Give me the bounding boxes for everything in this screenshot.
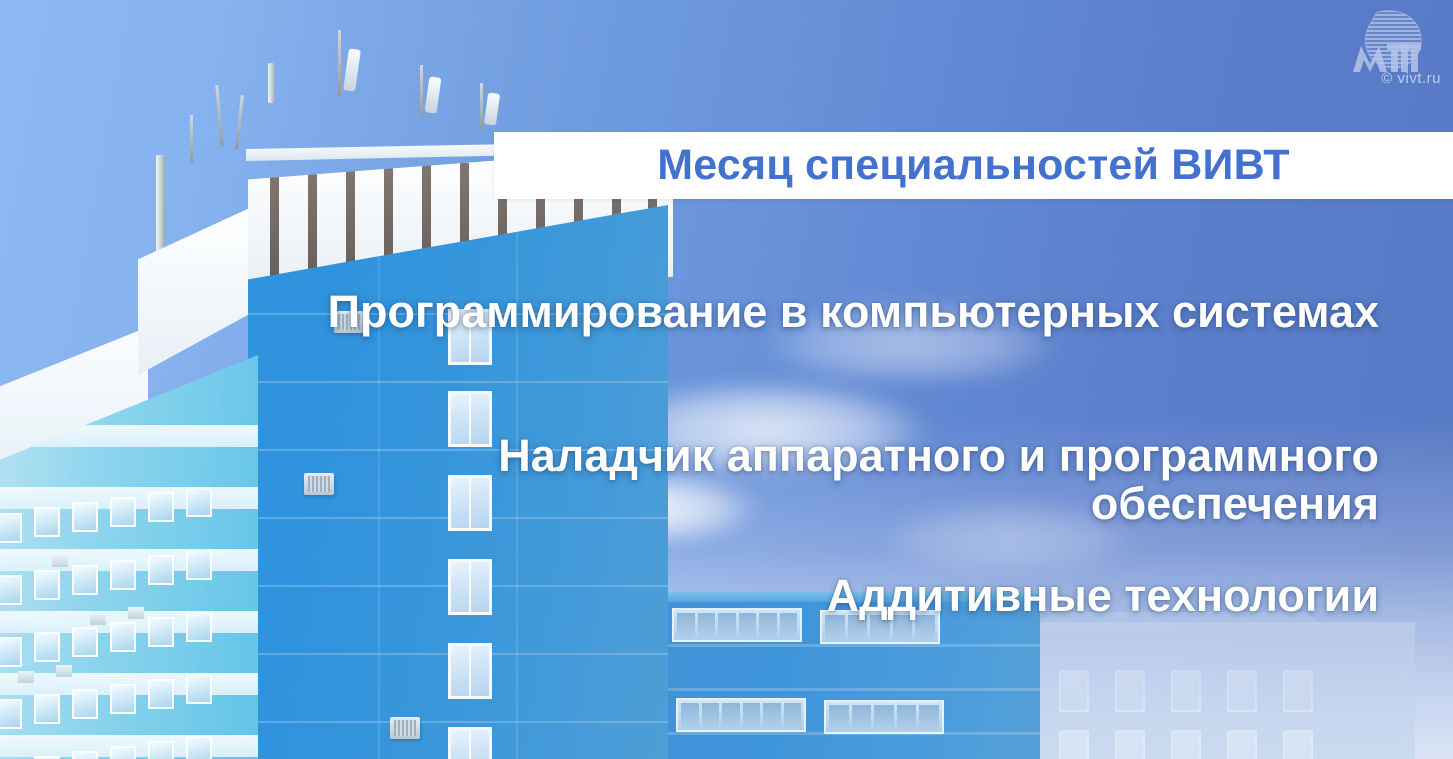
window: [0, 699, 22, 729]
antenna-panel: [343, 48, 361, 91]
air-conditioner-unit: [56, 665, 72, 677]
air-conditioner-unit: [52, 555, 68, 567]
window: [34, 632, 60, 662]
window: [148, 555, 174, 585]
window: [186, 550, 212, 580]
window: [0, 575, 22, 605]
window: [186, 487, 212, 517]
page-title: Месяц специальностей ВИВТ: [657, 144, 1289, 187]
window: [148, 679, 174, 709]
roof-pipe: [268, 63, 275, 103]
window: [34, 694, 60, 724]
title-banner: Месяц специальностей ВИВТ: [494, 132, 1453, 199]
window: [448, 559, 492, 615]
air-conditioner-unit: [128, 607, 144, 619]
antenna-mast: [338, 30, 341, 96]
window: [34, 507, 60, 537]
window: [110, 622, 136, 652]
specialty-line-3: Аддитивные технологии: [500, 572, 1379, 620]
window: [186, 674, 212, 704]
window: [72, 751, 98, 759]
window: [0, 513, 22, 543]
antenna-mast: [190, 115, 193, 163]
window: [0, 637, 22, 667]
air-conditioner-unit: [18, 671, 34, 683]
specialty-line-2: Наладчик аппаратного и программного обес…: [240, 432, 1379, 527]
window: [110, 497, 136, 527]
background-building: [985, 612, 1415, 759]
antenna-panel: [484, 92, 500, 125]
air-conditioner-unit: [90, 613, 106, 625]
window: [72, 627, 98, 657]
window: [148, 492, 174, 522]
antenna-mast: [420, 65, 423, 117]
window: [148, 741, 174, 759]
window: [186, 612, 212, 642]
antenna-mast: [235, 95, 244, 149]
window: [448, 643, 492, 699]
antenna-mast: [480, 83, 483, 129]
window: [72, 689, 98, 719]
antenna-panel: [425, 76, 442, 113]
window: [110, 746, 136, 759]
window: [110, 684, 136, 714]
air-conditioner-unit: [390, 717, 420, 739]
window: [186, 736, 212, 759]
window: [148, 617, 174, 647]
window: [448, 727, 492, 759]
window: [72, 502, 98, 532]
antenna-mast: [215, 85, 223, 147]
window: [110, 560, 136, 590]
promo-banner-image: Месяц специальностей ВИВТ Программирован…: [0, 0, 1453, 759]
window: [34, 570, 60, 600]
window: [72, 565, 98, 595]
copyright-label: © vivt.ru: [1381, 70, 1441, 87]
specialty-line-1: Программирование в компьютерных системах: [300, 288, 1379, 336]
